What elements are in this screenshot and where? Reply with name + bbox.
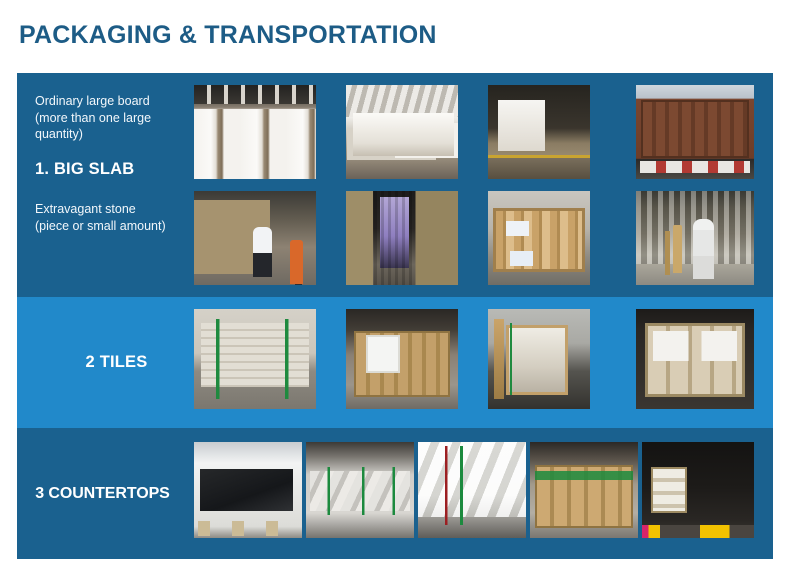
photo-workers-granite-slab[interactable] (194, 191, 316, 285)
photo-tile-crates-on-pallet[interactable] (346, 309, 458, 409)
heading-big-slab: 1. BIG SLAB (35, 160, 170, 179)
photo-surface (194, 191, 316, 285)
heading-tiles: 2 TILES (35, 353, 184, 372)
photo-slabs-in-truck-bed[interactable] (488, 85, 590, 179)
photo-surface (194, 309, 316, 409)
photo-worker-inside-container[interactable] (636, 191, 754, 285)
photo-wrapped-crate-worker[interactable] (488, 309, 590, 409)
photo-surface (194, 442, 302, 538)
photo-surface (488, 309, 590, 409)
photo-slabs-loading-warehouse[interactable] (346, 85, 458, 179)
photo-surface (488, 191, 590, 285)
photo-surface (636, 191, 754, 285)
photo-surface (346, 309, 458, 409)
photo-wrapped-slab-bundles[interactable] (194, 85, 316, 179)
photo-surface (636, 309, 754, 409)
photo-tile-bundle-green-straps[interactable] (194, 309, 316, 409)
photo-surface (346, 85, 458, 179)
section-label-countertops: 3 COUNTERTOPS (17, 428, 178, 559)
photo-surface (530, 442, 638, 538)
photo-grid-big-slab (178, 73, 773, 297)
caption-ordinary-large-board: Ordinary large board (more than one larg… (35, 93, 170, 143)
photo-grey-countertops-strapped[interactable] (306, 442, 414, 538)
section-big-slab: Ordinary large board (more than one larg… (17, 73, 773, 297)
heading-countertops: 3 COUNTERTOPS (35, 485, 170, 503)
photo-surface (194, 85, 316, 179)
photo-slab-aisle-purple-light[interactable] (346, 191, 458, 285)
photo-grid-countertops (178, 428, 773, 559)
photo-brown-shipping-container[interactable] (636, 85, 754, 179)
photo-wooden-crates-slabs[interactable] (488, 191, 590, 285)
photo-grid-tiles (178, 297, 773, 428)
photo-container-loaded-countertops[interactable] (642, 442, 754, 538)
photo-surface (306, 442, 414, 538)
photo-countertop-crates-pallets[interactable] (530, 442, 638, 538)
photo-black-countertop-pallet[interactable] (194, 442, 302, 538)
photo-surface (636, 85, 754, 179)
photo-container-loaded-tiles[interactable] (636, 309, 754, 409)
section-tiles: 2 TILES (17, 297, 773, 428)
section-label-big-slab: Ordinary large board (more than one larg… (17, 73, 178, 297)
photo-surface (488, 85, 590, 179)
photo-surface (346, 191, 458, 285)
photo-surface (418, 442, 526, 538)
photo-surface (642, 442, 754, 538)
caption-extravagant-stone: Extravagant stone (piece or small amount… (35, 201, 170, 234)
section-countertops: 3 COUNTERTOPS (17, 428, 773, 559)
packaging-panel: Ordinary large board (more than one larg… (17, 73, 773, 559)
page-title: PACKAGING & TRANSPORTATION (19, 22, 437, 50)
photo-white-wrapped-bundle[interactable] (418, 442, 526, 538)
section-label-tiles: 2 TILES (17, 297, 178, 428)
